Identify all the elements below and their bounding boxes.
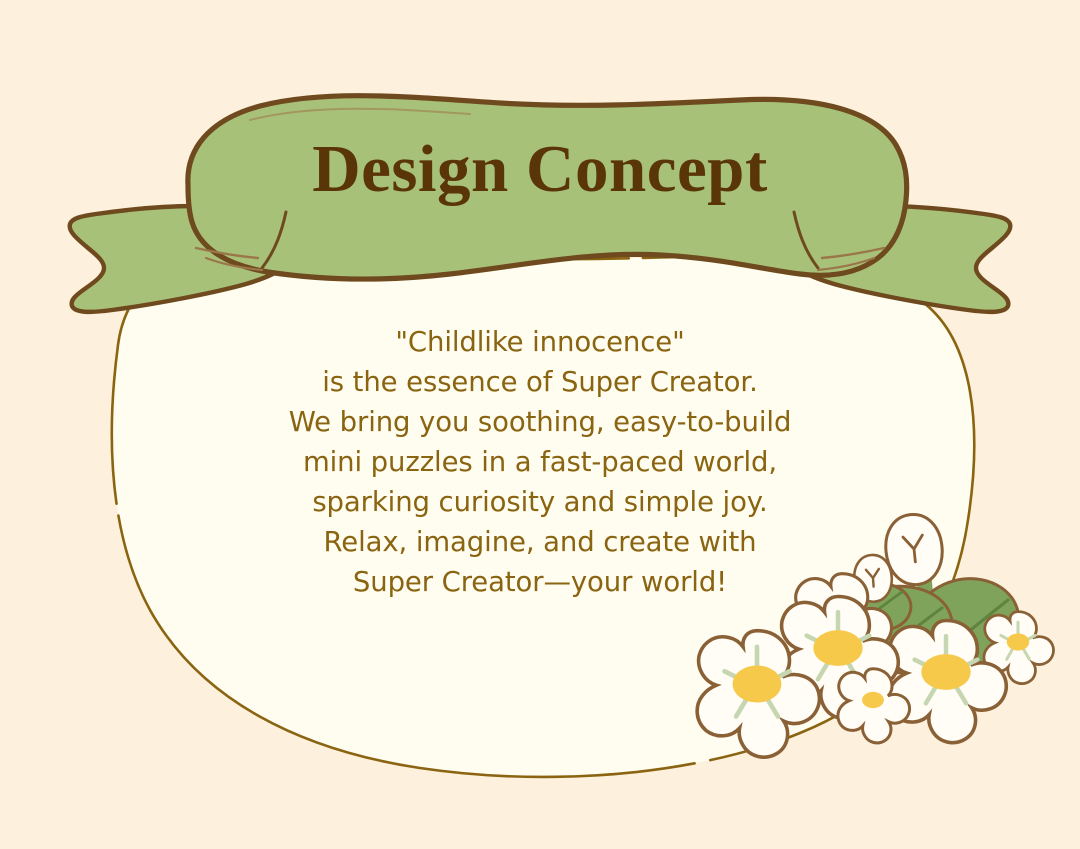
- ribbon-band: [188, 96, 907, 279]
- flower-upper-mid-center: [813, 630, 862, 666]
- flower-far-right-center: [1007, 633, 1029, 650]
- poster-artwork: [0, 0, 1080, 849]
- design-concept-poster: Design Concept "Childlike innocence" is …: [0, 0, 1080, 849]
- flower-small-bottom-center: [862, 692, 884, 708]
- flower-center-right-center: [921, 654, 970, 690]
- flower-front-left-center: [733, 665, 782, 702]
